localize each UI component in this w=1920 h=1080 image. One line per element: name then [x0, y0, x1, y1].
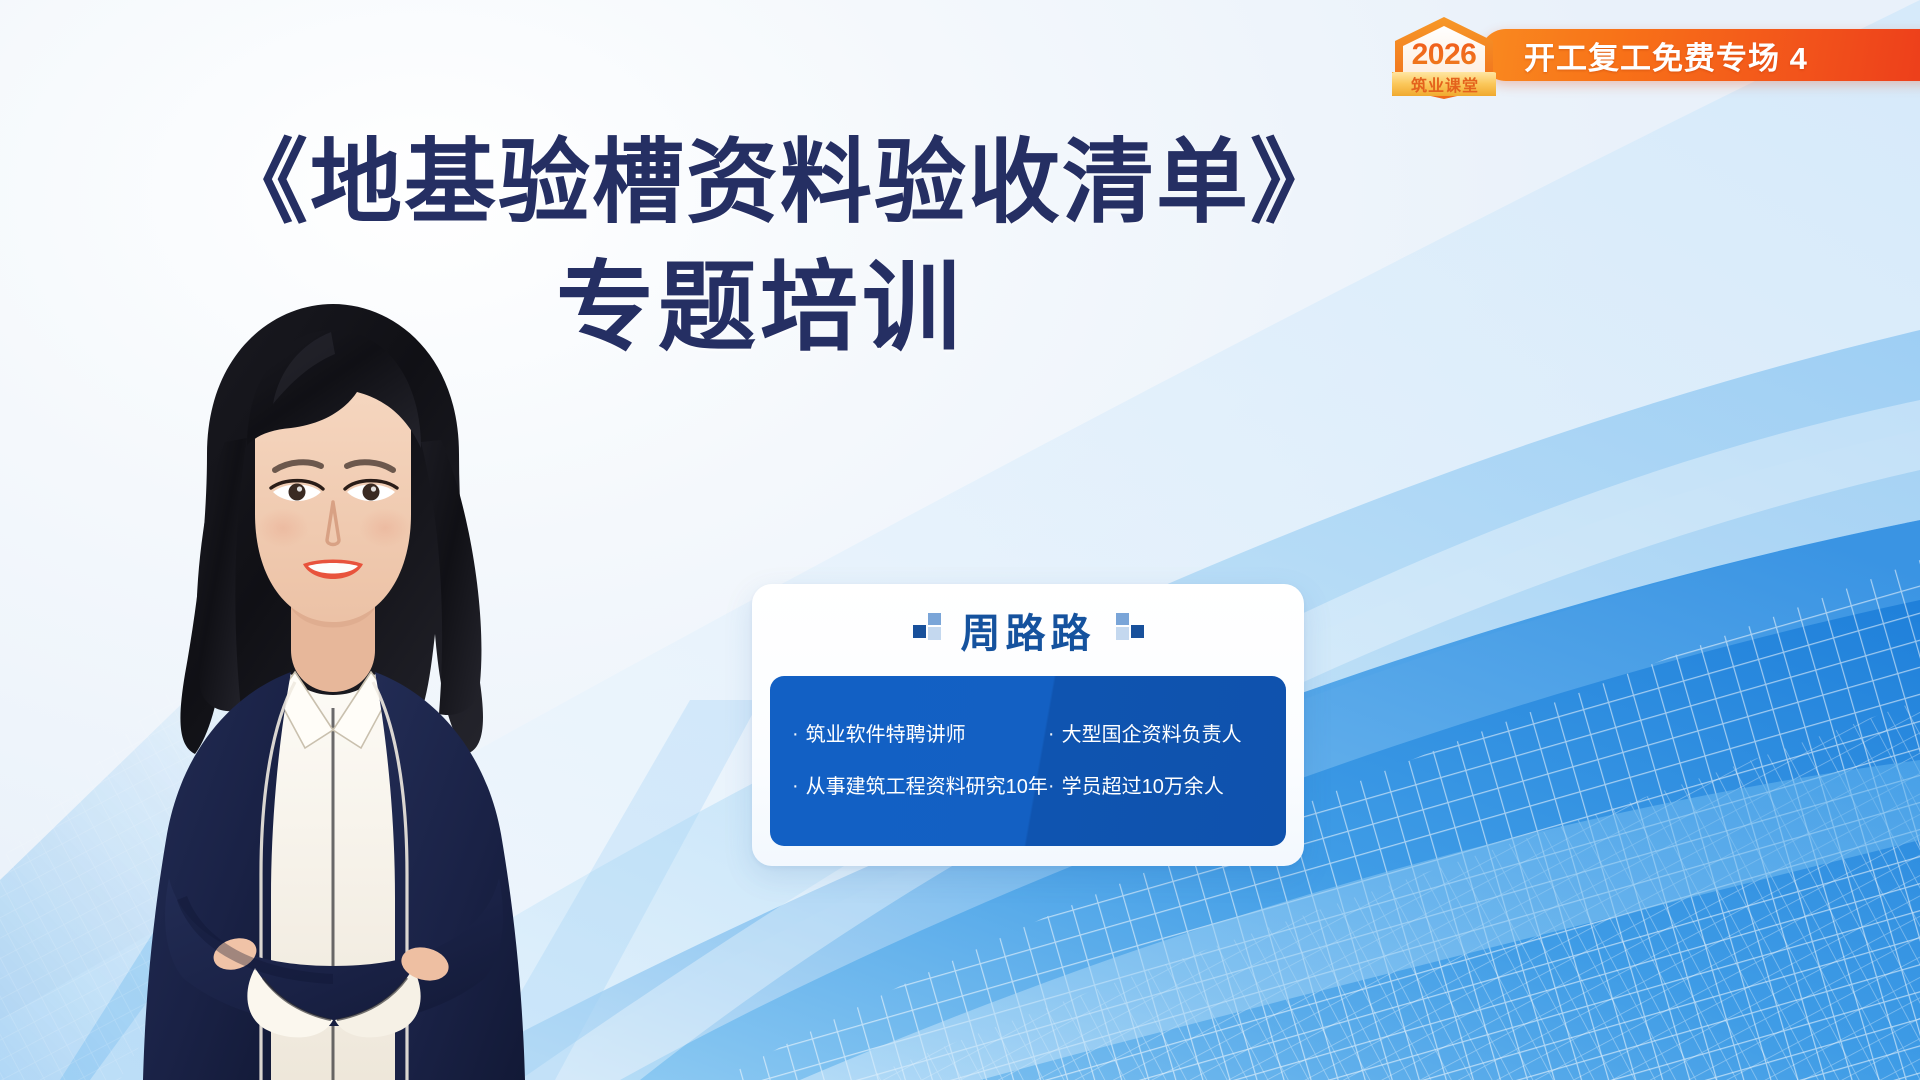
presenter-portrait — [95, 278, 565, 1080]
badge-year-text: 2026 — [1392, 38, 1496, 72]
page-title: 《地基验槽资料验收清单》 — [0, 137, 1560, 231]
promo-headline-text: 开工复工免费专场 4 — [1524, 33, 1808, 78]
credential-text: 学员超过10万余人 — [1062, 776, 1224, 798]
speaker-name-row: 周路路 — [752, 584, 1304, 676]
credential-item: · 从事建筑工程资料研究10年 — [792, 776, 1048, 798]
speaker-credentials-panel: · 筑业软件特聘讲师 · 大型国企资料负责人 · 从事建筑工程资料研究10年 ·… — [770, 676, 1286, 846]
credential-item: · 筑业软件特聘讲师 — [792, 724, 1048, 746]
square-dots-icon-left — [913, 613, 941, 647]
square-dots-icon-right — [1116, 613, 1144, 647]
speaker-name: 周路路 — [961, 601, 1096, 659]
promo-headline-pill[interactable]: 开工复工免费专场 4 — [1480, 29, 1920, 81]
bullet-marker: · — [1048, 724, 1055, 745]
credential-item: · 学员超过10万余人 — [1048, 776, 1276, 798]
credential-text: 大型国企资料负责人 — [1062, 724, 1242, 746]
credential-text: 从事建筑工程资料研究10年 — [806, 776, 1048, 798]
credential-item: · 大型国企资料负责人 — [1048, 724, 1276, 746]
bullet-marker: · — [1048, 776, 1055, 797]
promo-banner: 开工复工免费专场 4 2026 筑业课堂 《地基验槽资料验收清单》 — [0, 0, 1920, 1080]
bullet-marker: · — [792, 776, 799, 797]
credential-text: 筑业软件特聘讲师 — [806, 724, 966, 746]
speaker-card: 周路路 · 筑业软件特聘讲师 · 大型国企资料负责人 · 从事建筑工程资料研究1… — [752, 584, 1304, 866]
bullet-marker: · — [792, 724, 799, 745]
badge-brand-text: 筑业课堂 — [1386, 72, 1504, 96]
